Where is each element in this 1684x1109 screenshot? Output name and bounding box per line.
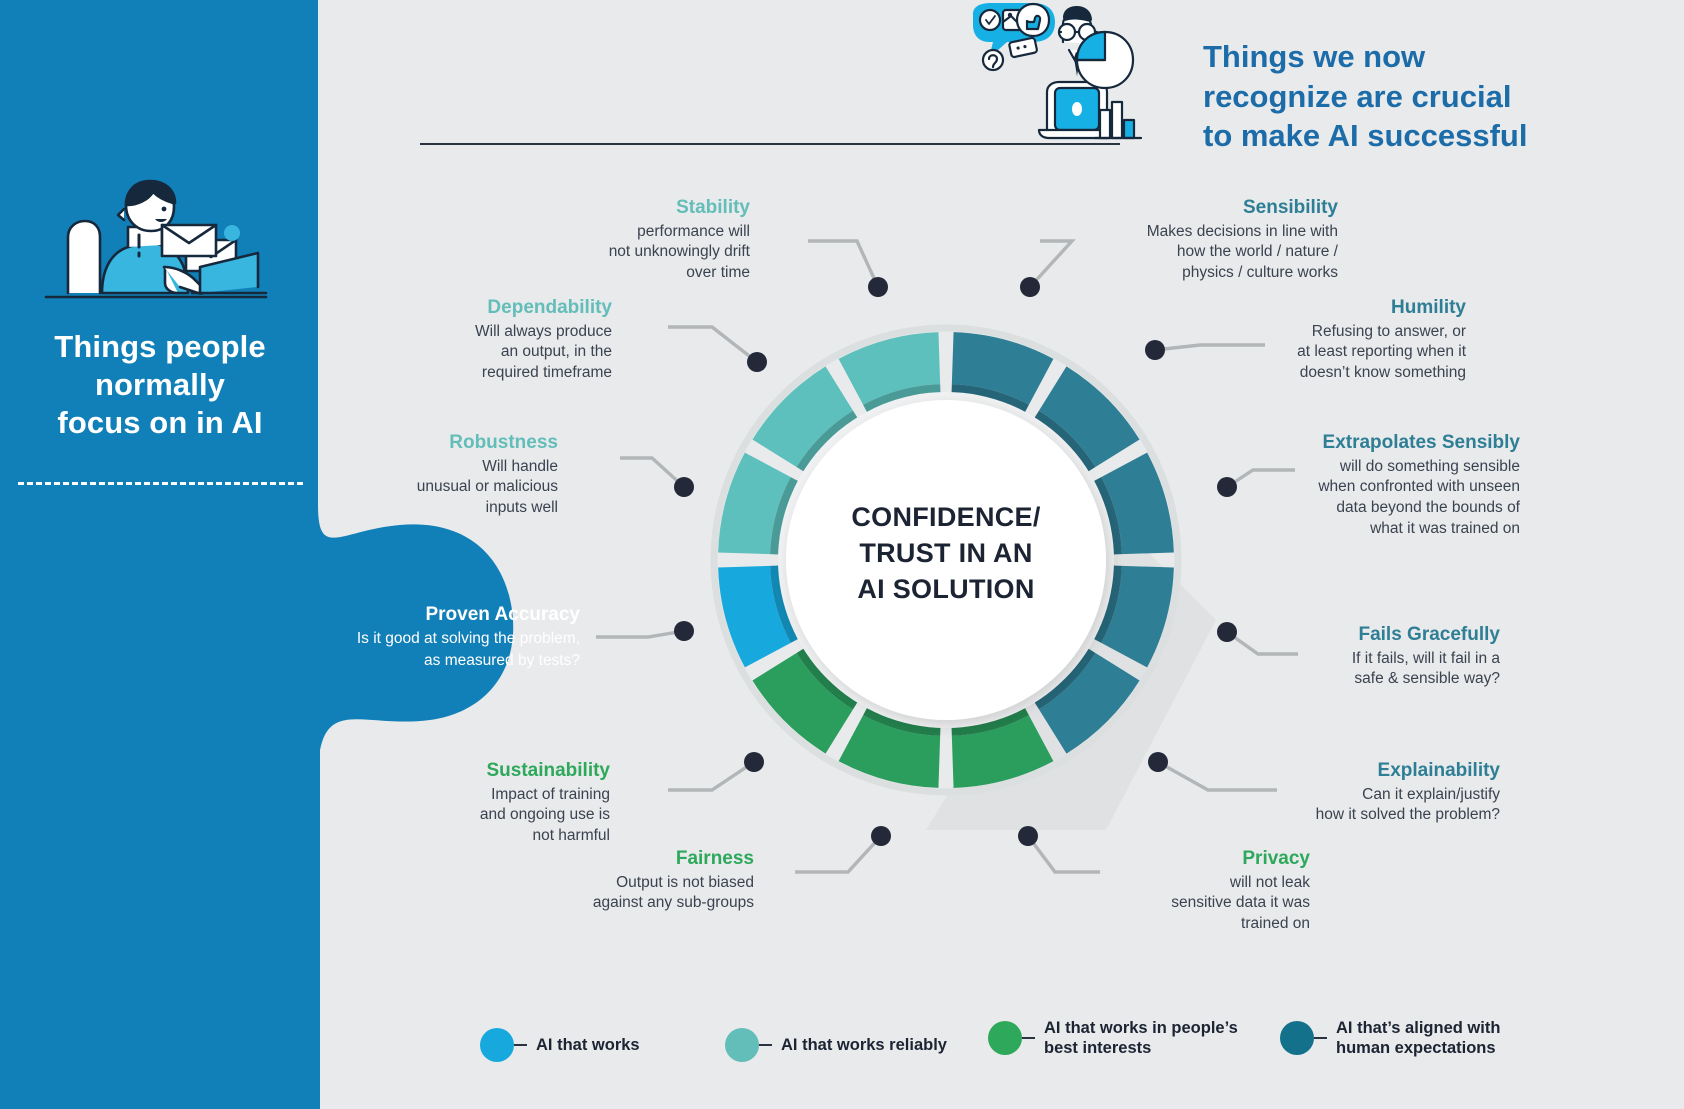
legend-swatch <box>480 1028 514 1062</box>
label-heading: Robustness <box>310 431 558 456</box>
legend-item-ai-human-expectations: AI that’s aligned withhuman expectations <box>1280 1018 1500 1059</box>
legend-connector <box>1314 1037 1327 1039</box>
label-heading: Fairness <box>500 847 754 872</box>
label-fails-gracefully: Fails Gracefully If it fails, will it fa… <box>1260 623 1500 690</box>
label-body: Will handleunusual or maliciousinputs we… <box>310 457 558 519</box>
label-body: Makes decisions in line withhow the worl… <box>1060 222 1338 284</box>
legend-label: AI that works <box>536 1035 640 1055</box>
label-fairness: Fairness Output is not biasedagainst any… <box>500 847 754 914</box>
label-humility: Humility Refusing to answer, orat least … <box>1200 296 1466 384</box>
label-body: Impact of trainingand ongoing use isnot … <box>350 785 610 847</box>
legend-item-ai-that-works-reliably: AI that works reliably <box>725 1028 947 1062</box>
label-body: Will always producean output, in therequ… <box>340 322 612 384</box>
label-heading: Explainability <box>1230 759 1500 784</box>
legend-connector <box>514 1044 527 1046</box>
legend-swatch <box>1280 1021 1314 1055</box>
label-heading: Humility <box>1200 296 1466 321</box>
label-body: Is it good at solving the problem,as mea… <box>290 628 580 672</box>
label-heading: Sensibility <box>1060 196 1338 221</box>
label-explainability: Explainability Can it explain/justifyhow… <box>1230 759 1500 826</box>
label-body: If it fails, will it fail in asafe & sen… <box>1260 649 1500 690</box>
label-body: will do something sensiblewhen confronte… <box>1210 457 1520 539</box>
legend-swatch <box>725 1028 759 1062</box>
legend-label: AI that’s aligned withhuman expectations <box>1336 1018 1500 1059</box>
legend: AI that works AI that works reliably AI … <box>480 1018 1520 1088</box>
label-heading: Sustainability <box>350 759 610 784</box>
label-sensibility: Sensibility Makes decisions in line with… <box>1060 196 1338 284</box>
legend-label: AI that works reliably <box>781 1035 947 1055</box>
label-body: will not leaksensitive data it wastraine… <box>1110 873 1310 935</box>
label-body: Refusing to answer, orat least reporting… <box>1200 322 1466 384</box>
label-privacy: Privacy will not leaksensitive data it w… <box>1110 847 1310 935</box>
legend-connector <box>759 1044 772 1046</box>
legend-item-ai-that-works: AI that works <box>480 1028 640 1062</box>
legend-connector <box>1022 1037 1035 1039</box>
label-proven-accuracy: Proven Accuracy Is it good at solving th… <box>290 602 580 672</box>
label-robustness: Robustness Will handleunusual or malicio… <box>310 431 558 519</box>
label-stability: Stability performance willnot unknowingl… <box>470 196 750 284</box>
label-heading: Dependability <box>340 296 612 321</box>
label-heading: Privacy <box>1110 847 1310 872</box>
legend-swatch <box>988 1021 1022 1055</box>
label-extrapolates-sensibly: Extrapolates Sensibly will do something … <box>1210 431 1520 539</box>
connector-lines <box>0 0 1684 1109</box>
legend-item-ai-best-interests: AI that works in people’sbest interests <box>988 1018 1238 1059</box>
label-heading: Stability <box>470 196 750 221</box>
label-heading: Proven Accuracy <box>290 602 580 628</box>
label-body: performance willnot unknowingly driftove… <box>470 222 750 284</box>
label-heading: Fails Gracefully <box>1260 623 1500 648</box>
label-body: Output is not biasedagainst any sub-grou… <box>500 873 754 914</box>
label-body: Can it explain/justifyhow it solved the … <box>1230 785 1500 826</box>
label-dependability: Dependability Will always producean outp… <box>340 296 612 384</box>
label-sustainability: Sustainability Impact of trainingand ong… <box>350 759 610 847</box>
legend-label: AI that works in people’sbest interests <box>1044 1018 1238 1059</box>
label-heading: Extrapolates Sensibly <box>1210 431 1520 456</box>
